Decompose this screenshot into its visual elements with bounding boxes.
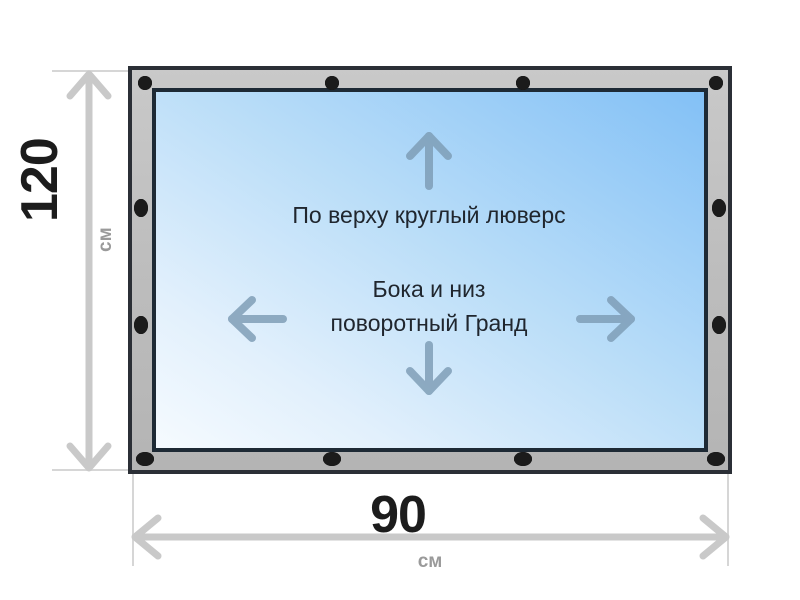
panel-label-top: По верху круглый люверс <box>292 198 565 232</box>
width-dimension-value: 90 <box>370 489 426 541</box>
height-dimension-unit: см <box>96 227 115 252</box>
panel-label-bottom: Бока и низ поворотный Гранд <box>331 272 528 340</box>
panel-label-bottom-line1: Бока и низ <box>331 272 528 306</box>
width-dimension-unit: см <box>418 552 443 571</box>
diagram-canvas: По верху круглый люверс Бока и низ повор… <box>0 0 800 600</box>
panel-label-bottom-line2: поворотный Гранд <box>331 306 528 340</box>
height-dimension-value: 120 <box>14 138 66 222</box>
height-dimension-arrow <box>70 74 108 468</box>
